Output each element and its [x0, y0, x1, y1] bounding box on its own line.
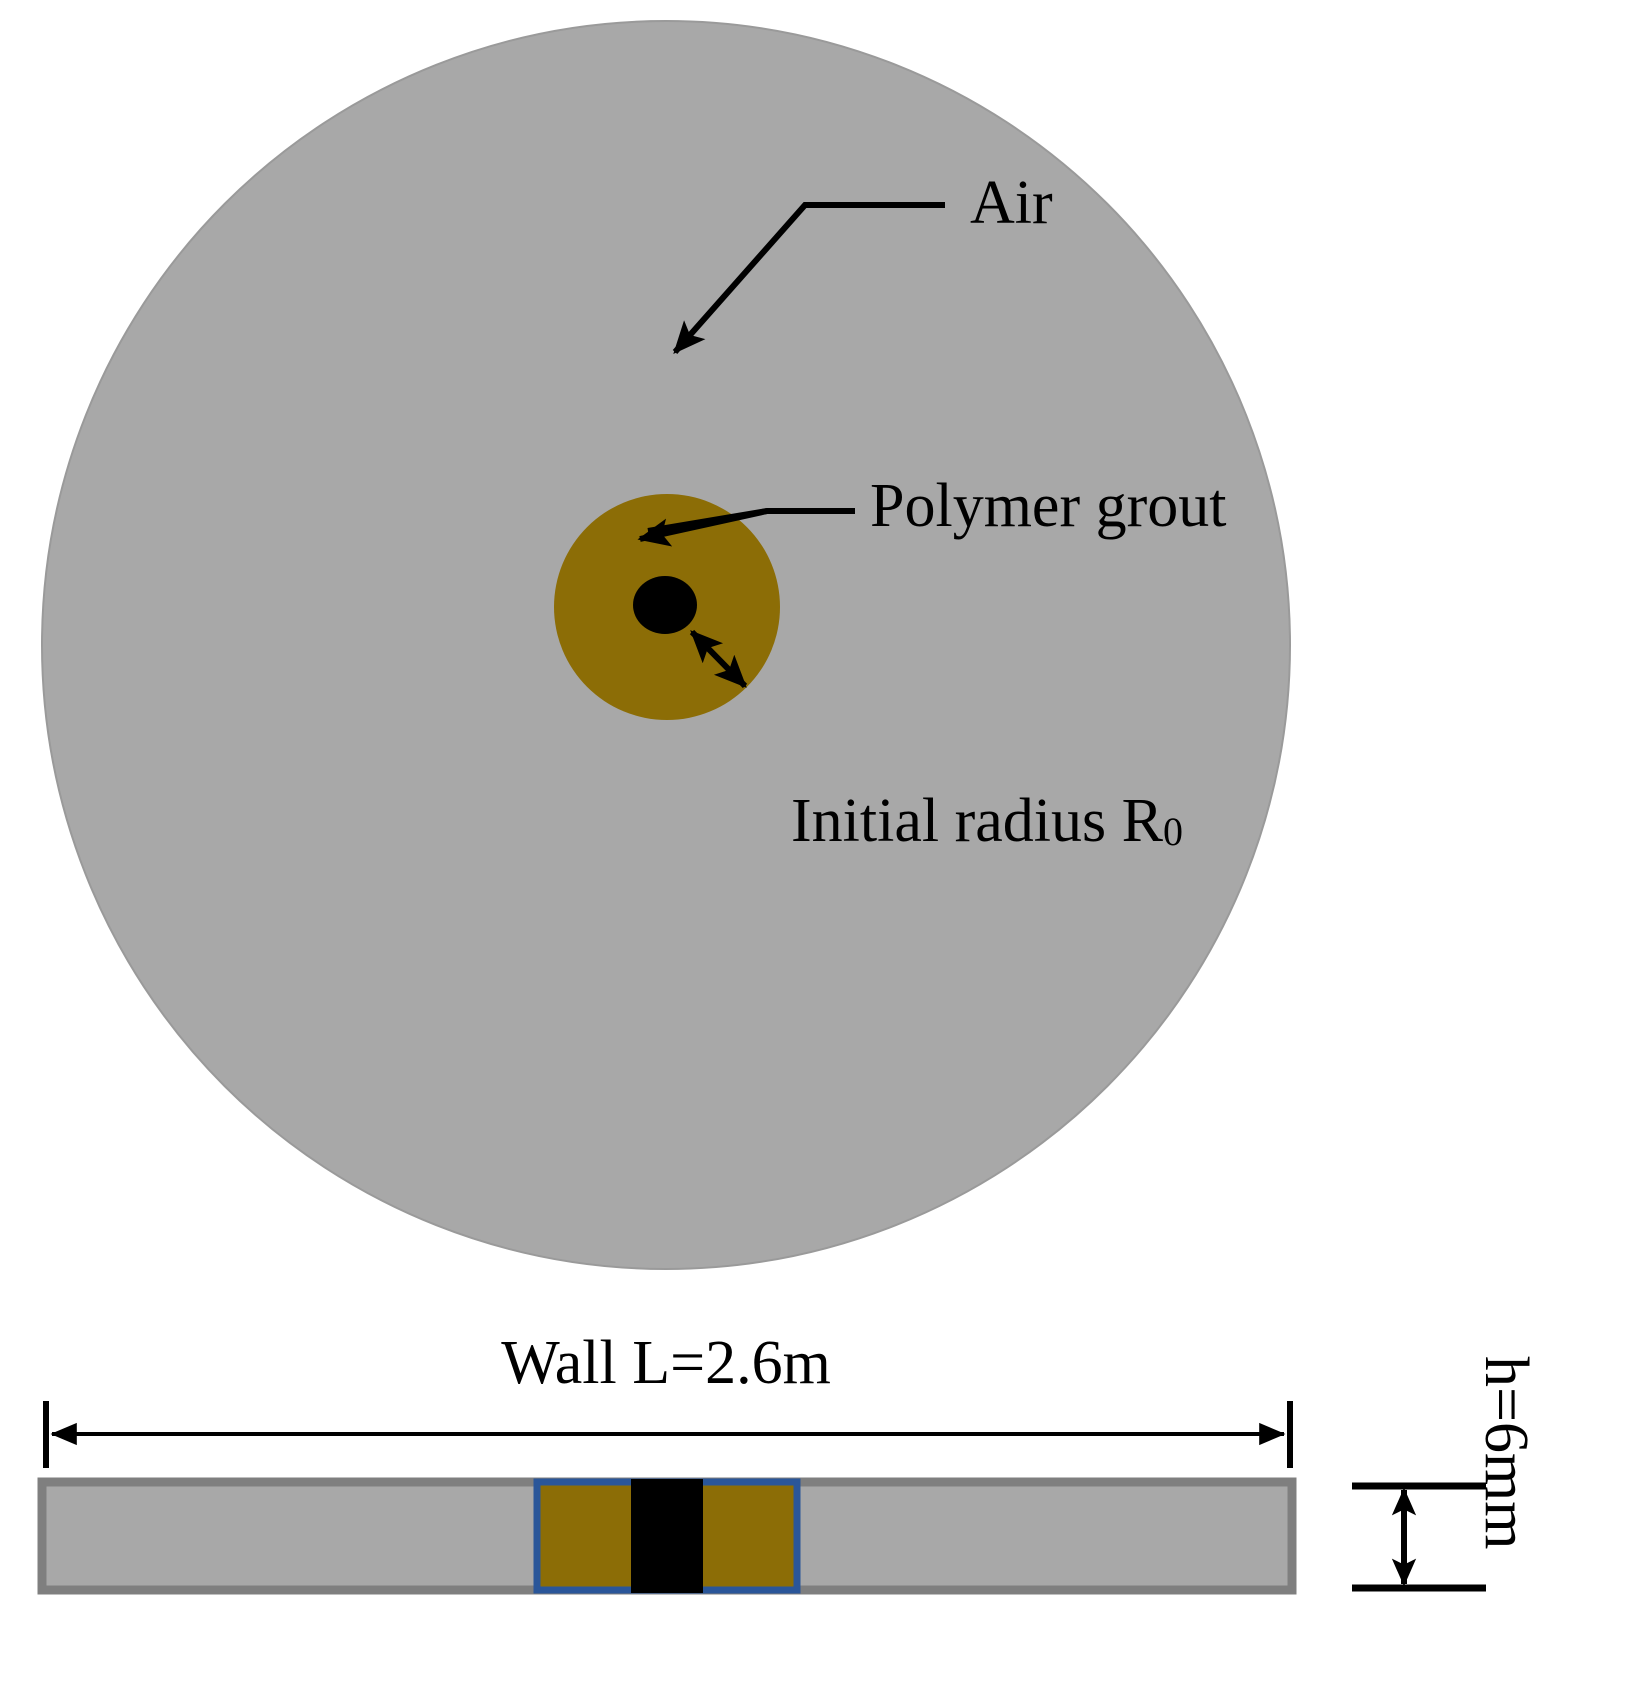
schematic-svg: Air Polymer grout Initial radius R0 Wall… [0, 0, 1630, 1684]
figure-container: Air Polymer grout Initial radius R0 Wall… [0, 0, 1630, 1684]
air-label: Air [970, 169, 1053, 237]
svg-text:Initial radius R0: Initial radius R0 [791, 787, 1183, 855]
section-view: Wall L=2.6m h=6mm [42, 1329, 1540, 1593]
initial-radius-text: Initial radius R [791, 787, 1164, 855]
injection-hole-ellipse [633, 576, 697, 634]
initial-radius-label: Initial radius R0 [791, 787, 1183, 855]
plan-view: Air Polymer grout Initial radius R0 [42, 21, 1290, 1269]
hole-band [631, 1479, 703, 1593]
wall-length-label: Wall L=2.6m [501, 1329, 831, 1397]
wall-thickness-label: h=6mm [1472, 1356, 1540, 1549]
polymer-grout-label: Polymer grout [870, 472, 1226, 540]
initial-radius-subscript: 0 [1163, 809, 1183, 854]
wall-length-dimension [46, 1401, 1290, 1468]
wall-thickness-dimension [1352, 1486, 1486, 1588]
wall-bar [42, 1479, 1292, 1593]
